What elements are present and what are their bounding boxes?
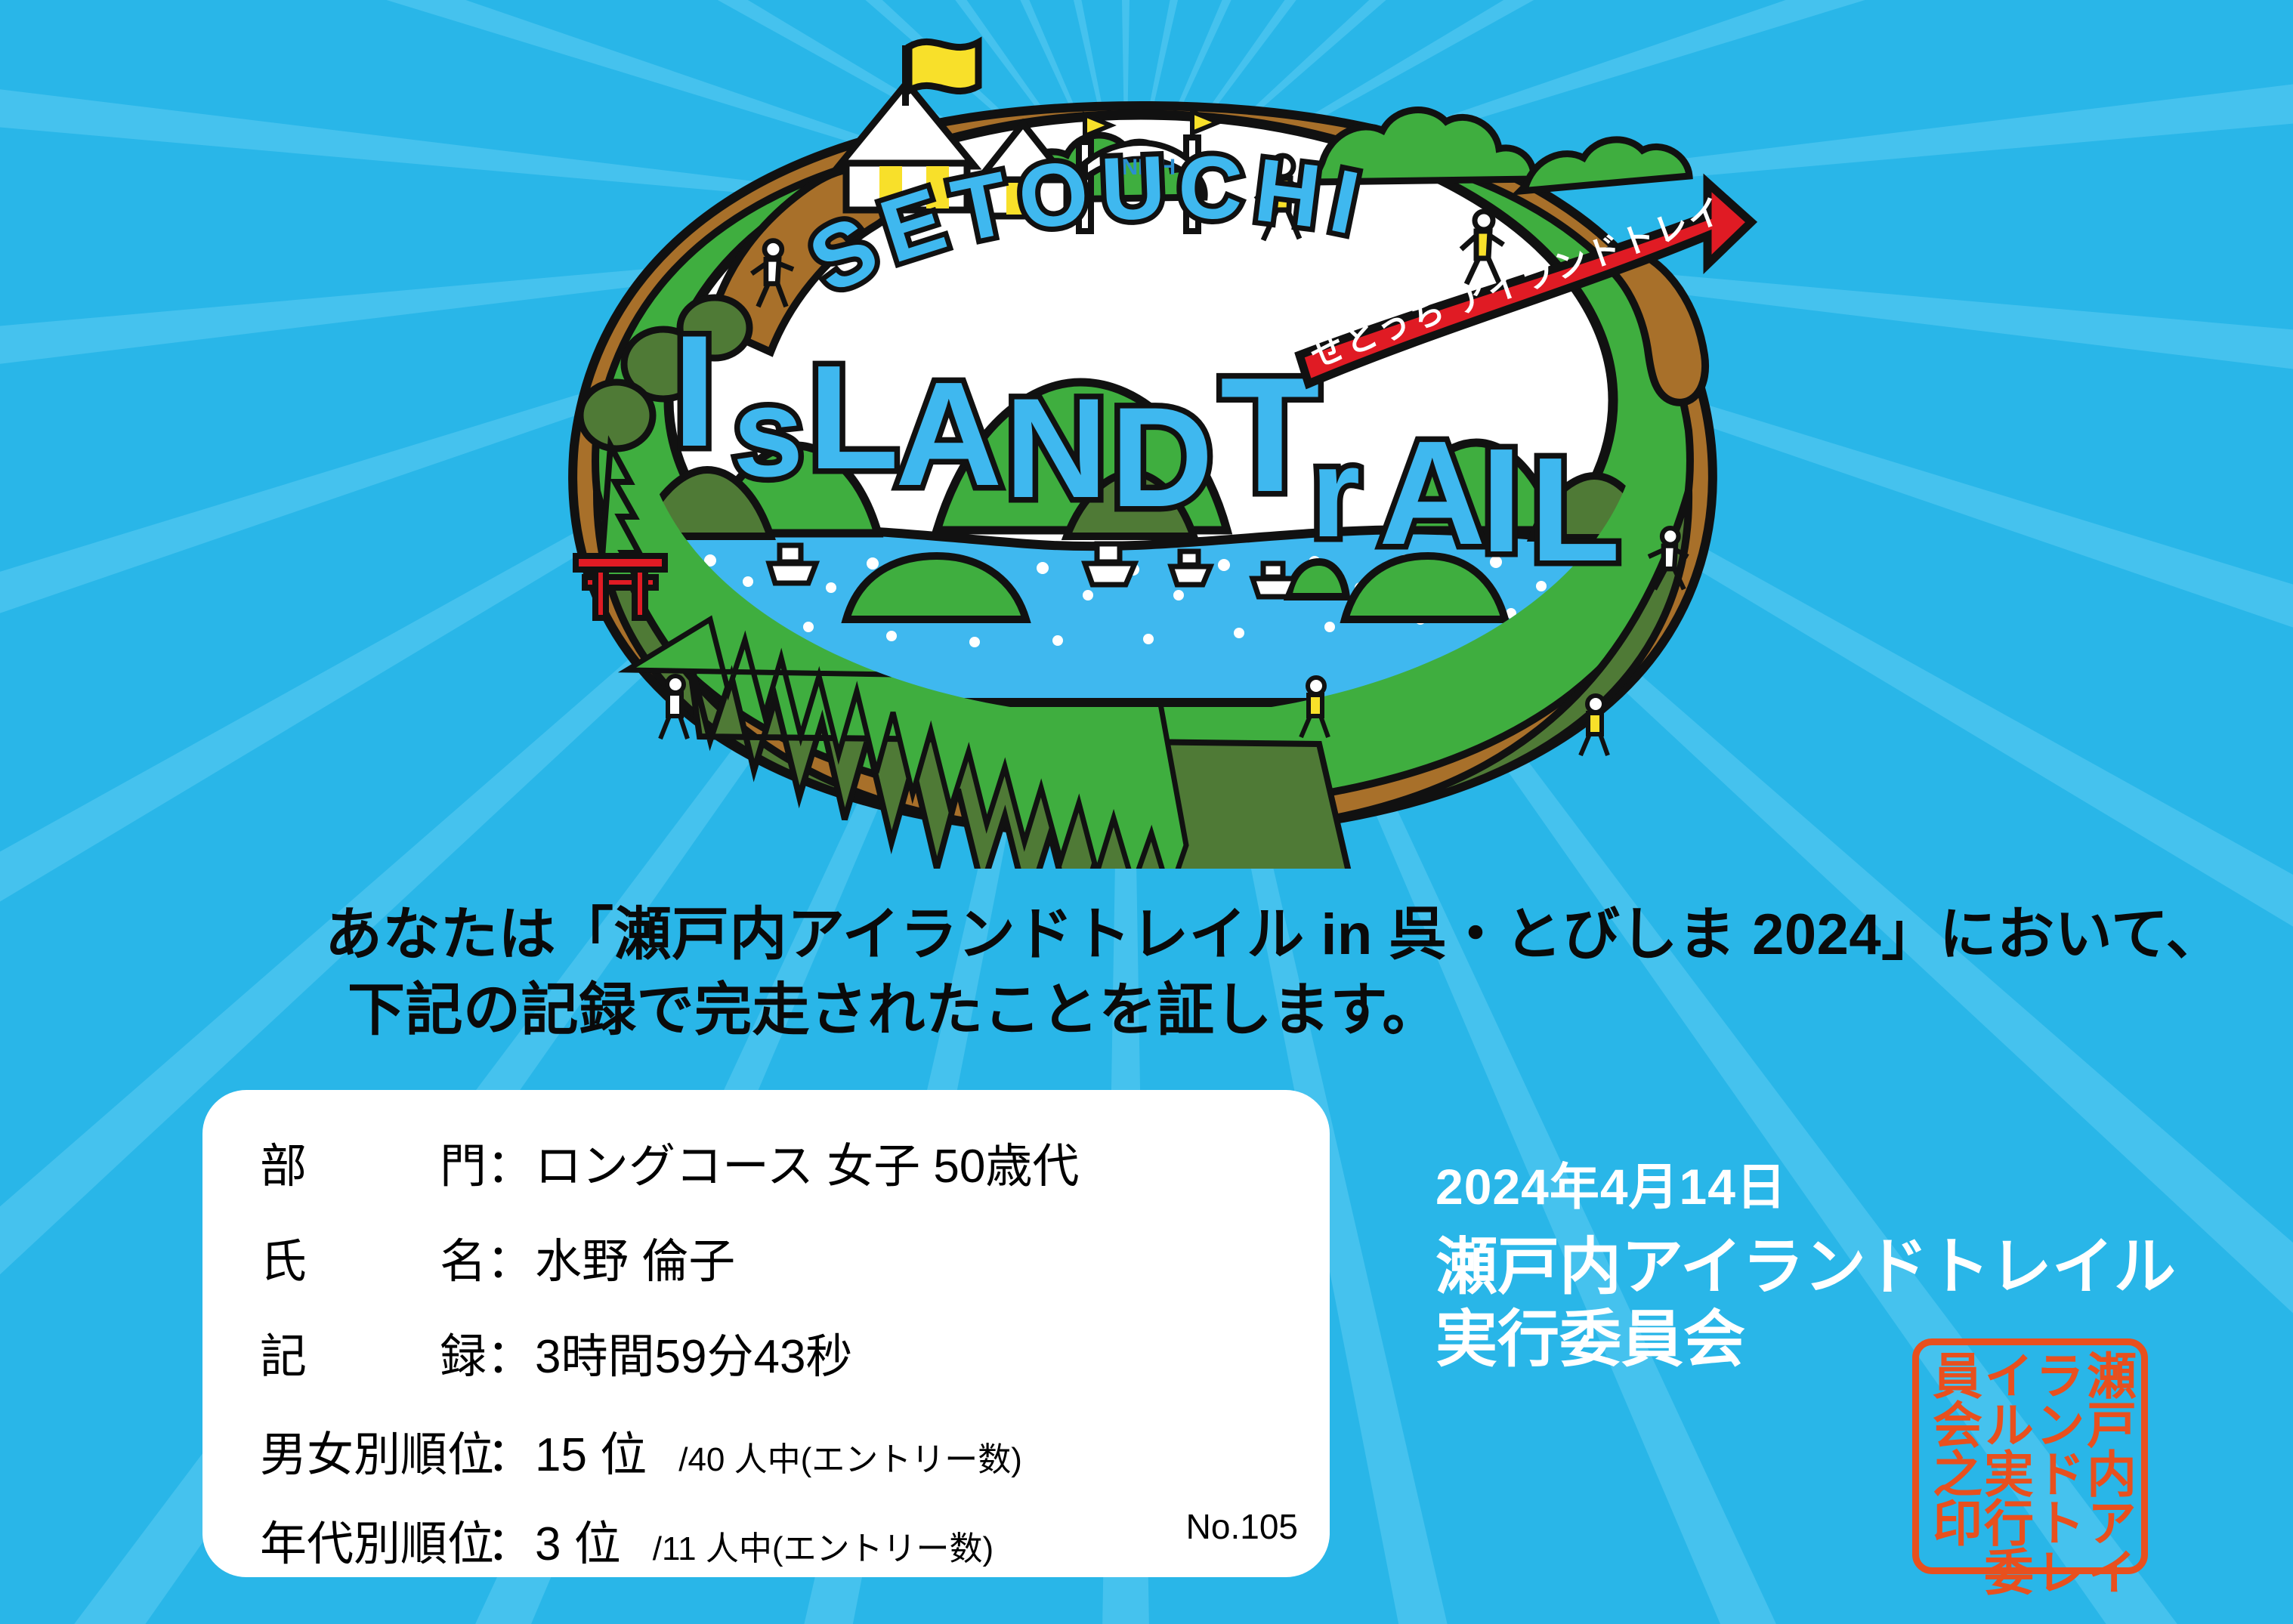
- logo-letter-N: N: [1005, 369, 1108, 527]
- row-gender-rank-colon: ：: [487, 1416, 533, 1484]
- row-gender-rank: 男女別順位 ： 15 位 /40 人中(エントリー数): [260, 1416, 1307, 1484]
- row-age-rank-label: 年代別順位: [260, 1505, 487, 1573]
- row-record-value: 3時間59分43秒: [535, 1318, 852, 1386]
- certificate-date: 2024年4月14日: [1435, 1159, 2176, 1215]
- result-details-card: 部 門 ： ロングコース 女子 50歳代 氏 名 ： 水野 倫子 記 録: [202, 1090, 1330, 1577]
- logo-letter-A: A: [895, 351, 1003, 517]
- row-age-rank-colon: ：: [487, 1505, 533, 1573]
- row-age-rank-value: 3 位: [535, 1505, 621, 1573]
- logo-letter-r: r: [1311, 421, 1360, 563]
- organizer-line-1: 瀬戸内アイランドトレイル: [1435, 1231, 2176, 1304]
- row-gender-rank-label: 男女別順位: [260, 1416, 487, 1484]
- statement-line-1: あなたは「瀬戸内アイランドトレイル in 呉・とびしま 2024」において、: [325, 897, 2153, 973]
- logo-letter-L: L: [808, 335, 899, 500]
- row-record-label: 記 録: [260, 1318, 487, 1386]
- row-name-colon: ：: [487, 1223, 533, 1291]
- logo-letter-I: I: [672, 302, 716, 480]
- row-name-label: 氏 名: [260, 1223, 487, 1291]
- seal-column-1: 瀬戸内アイ: [2081, 1350, 2133, 1595]
- row-gender-rank-suffix: /40 人中(エントリー数): [678, 1432, 1022, 1480]
- row-category-label: 部 門: [260, 1128, 487, 1196]
- official-seal-stamp: 瀬戸内アイ ランドトレ イル実行委 員会之印: [1912, 1338, 2148, 1574]
- seal-column-3: イル実行委: [1979, 1350, 2030, 1595]
- row-category-value: ロングコース 女子 50歳代: [535, 1128, 1079, 1196]
- logo-letter-I2: I: [1481, 418, 1522, 583]
- row-gender-rank-value: 15 位: [535, 1416, 647, 1484]
- result-rows: 部 門 ： ロングコース 女子 50歳代 氏 名 ： 水野 倫子 記 録: [260, 1123, 1307, 1573]
- logo-letter-L2: L: [1530, 427, 1621, 592]
- statement-line-2: 下記の記録で完走されたことを証します。: [325, 973, 2153, 1048]
- certificate-statement: あなたは「瀬戸内アイランドトレイル in 呉・とびしま 2024」において、 下…: [325, 897, 2153, 1049]
- seal-column-4: 員会之印: [1927, 1350, 1979, 1546]
- bib-number: No.105: [1186, 1506, 1298, 1547]
- logo-letter-s: s: [733, 361, 803, 503]
- row-record-colon: ：: [487, 1318, 533, 1386]
- row-age-rank-suffix: /11 人中(エントリー数): [653, 1521, 994, 1570]
- logo-letter-A2: A: [1379, 410, 1486, 576]
- seal-column-2: ランドトレ: [2030, 1350, 2081, 1595]
- event-logo: FINISH: [484, 23, 1798, 869]
- row-age-rank: 年代別順位 ： 3 位 /11 人中(エントリー数): [260, 1505, 1307, 1573]
- row-name: 氏 名 ： 水野 倫子: [260, 1223, 1307, 1291]
- row-record: 記 録 ： 3時間59分43秒: [260, 1318, 1307, 1386]
- certificate-page: FINISH: [0, 0, 2293, 1624]
- row-category: 部 門 ： ロングコース 女子 50歳代: [260, 1128, 1307, 1196]
- row-name-value: 水野 倫子: [535, 1223, 735, 1291]
- row-category-colon: ：: [487, 1128, 533, 1196]
- logo-letter-D: D: [1111, 378, 1213, 536]
